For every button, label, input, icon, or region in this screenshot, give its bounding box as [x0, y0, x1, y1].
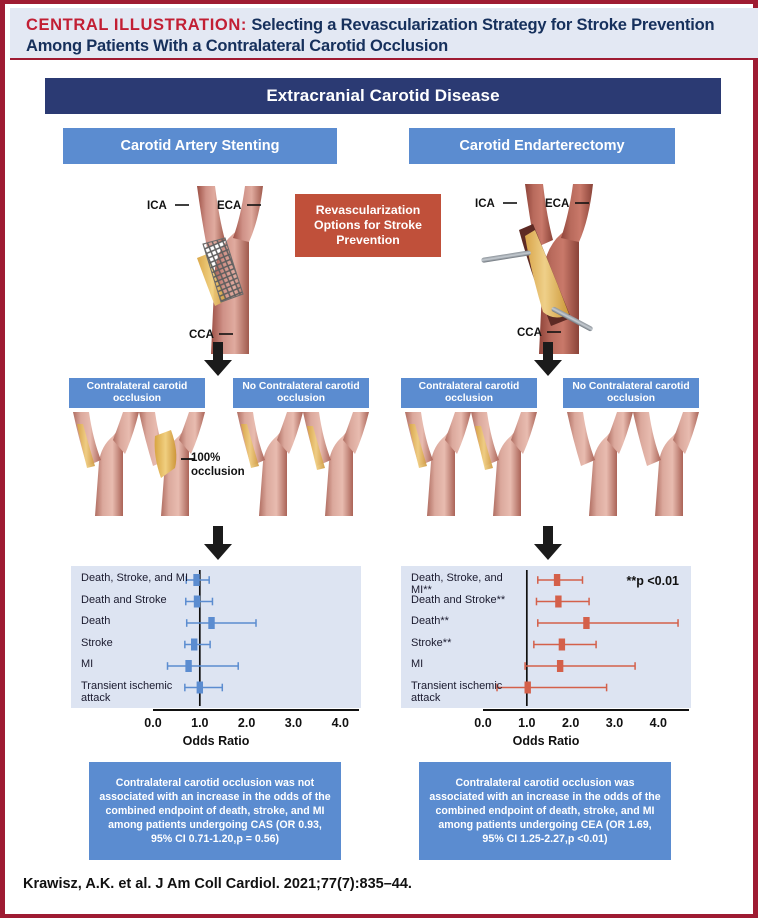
central-illustration-header: CENTRAL ILLUSTRATION: Selecting a Revasc…: [10, 8, 758, 60]
vessel-bifurcation: [471, 412, 537, 516]
down-arrow-icon-cas-2: [203, 526, 233, 560]
forest-row: [187, 617, 256, 629]
axis-tick-label: 1.0: [518, 716, 535, 730]
occlusion-callout-leader-line: [181, 456, 195, 462]
label-eca-cas: ECA: [217, 200, 241, 212]
vessel-bifurcation: [633, 412, 699, 516]
vessel-pair-group-3: [401, 410, 537, 516]
occlusion-callout-line2: occlusion: [191, 466, 245, 480]
conclusion-box-cas: Contralateral carotid occlusion was not …: [89, 762, 341, 860]
vessel-bifurcation: [405, 412, 471, 516]
disease-band-label: Extracranial Carotid Disease: [266, 86, 499, 106]
down-arrow-icon-cea-1: [533, 342, 563, 376]
label-cca-cea: CCA: [517, 327, 542, 339]
vessel-bifurcation: [73, 412, 139, 516]
point-estimate-marker: [554, 574, 560, 586]
forest-row-label: Transient ischemic attack: [411, 680, 523, 705]
point-estimate-marker: [559, 639, 565, 651]
conclusion-box-cea: Contralateral carotid occlusion was asso…: [419, 762, 671, 860]
occlusion-group-label-2: No Contralateral carotid occlusion: [233, 381, 369, 405]
forest-row: [534, 639, 596, 651]
forest-row-label: Death and Stroke**: [411, 594, 523, 606]
point-estimate-marker: [208, 617, 214, 629]
axis-tick-label: 2.0: [562, 716, 579, 730]
vessel-bifurcation: [303, 412, 369, 516]
label-cca-cas: CCA: [189, 329, 214, 341]
forest-row-label: Transient ischemic attack: [81, 680, 193, 705]
vessel-pair-group-4: [563, 410, 699, 516]
forest-row: [538, 574, 583, 586]
conclusion-text-cea: Contralateral carotid occlusion was asso…: [429, 776, 661, 846]
forest-row-label: Death, Stroke, and MI: [81, 572, 193, 584]
forest-axis-line-cea: [401, 708, 691, 722]
citation: Krawisz, A.K. et al. J Am Coll Cardiol. …: [23, 876, 412, 892]
label-ica-cea: ICA: [475, 198, 495, 210]
occlusion-group-chip-2: No Contralateral carotid occlusion: [233, 378, 369, 408]
point-estimate-marker: [525, 682, 531, 694]
forest-row-label: Death: [81, 615, 193, 627]
significance-note: **p <0.01: [627, 574, 679, 588]
axis-tick-label: 1.0: [191, 716, 208, 730]
column-header-cas: Carotid Artery Stenting: [63, 128, 337, 164]
occlusion-group-label-4: No Contralateral carotid occlusion: [563, 381, 699, 405]
label-ica-cas: ICA: [147, 200, 167, 212]
forest-row-label: MI: [411, 658, 523, 670]
central-illustration-kicker: CENTRAL ILLUSTRATION:: [26, 16, 247, 34]
vessel-pair-group-1: [69, 410, 205, 516]
axis-tick-label: 0.0: [474, 716, 491, 730]
revascularization-options-box: Revascularization Options for Stroke Pre…: [295, 194, 441, 257]
forest-row: [525, 660, 635, 672]
disease-band: Extracranial Carotid Disease: [45, 78, 721, 114]
forest-axis-line-cas: [71, 708, 361, 722]
axis-tick-label: 4.0: [650, 716, 667, 730]
axis-tick-label: 3.0: [285, 716, 302, 730]
axis-title-cas: Odds Ratio: [71, 734, 361, 748]
forest-row: [536, 596, 589, 608]
forest-row-label: MI: [81, 658, 193, 670]
vessel-pair-group-2: [233, 410, 369, 516]
occlusion-group-chip-3: Contralateral carotid occlusion: [401, 378, 537, 408]
vessel-bifurcation: [237, 412, 303, 516]
point-estimate-marker: [557, 660, 563, 672]
occlusion-group-chip-1: Contralateral carotid occlusion: [69, 378, 205, 408]
down-arrow-icon-cea-2: [533, 526, 563, 560]
occlusion-callout: 100% occlusion: [191, 452, 245, 479]
forest-row-label: Death**: [411, 615, 523, 627]
point-estimate-marker: [555, 596, 561, 608]
forest-row-label: Stroke**: [411, 637, 523, 649]
column-header-cas-label: Carotid Artery Stenting: [121, 138, 280, 154]
point-estimate-marker: [583, 617, 589, 629]
occlusion-group-label-3: Contralateral carotid occlusion: [401, 381, 537, 405]
carotid-endarterectomy-illustration: ICA ECA CCA: [475, 172, 645, 354]
label-eca-cea: ECA: [545, 198, 569, 210]
axis-tick-label: 2.0: [238, 716, 255, 730]
illustration-frame: CENTRAL ILLUSTRATION: Selecting a Revasc…: [0, 0, 758, 918]
down-arrow-icon-cas-1: [203, 342, 233, 376]
axis-tick-label: 3.0: [606, 716, 623, 730]
forest-row-label: Stroke: [81, 637, 193, 649]
point-estimate-marker: [197, 682, 203, 694]
conclusion-text-cas: Contralateral carotid occlusion was not …: [99, 776, 331, 846]
forest-plot-cas: Death, Stroke, and MIDeath and StrokeDea…: [71, 566, 361, 708]
axis-tick-label: 0.0: [144, 716, 161, 730]
carotid-stenting-illustration: ICA ECA CCA: [145, 172, 315, 354]
point-estimate-marker: [194, 596, 200, 608]
axis-title-cea: Odds Ratio: [401, 734, 691, 748]
occlusion-group-label-1: Contralateral carotid occlusion: [69, 381, 205, 405]
vessel-bifurcation: [567, 412, 633, 516]
forest-plot-cea: **p <0.01 Death, Stroke, and MI**Death a…: [401, 566, 691, 708]
forest-axis-cea: 0.01.02.03.04.0 Odds Ratio: [401, 708, 691, 752]
column-header-cea-label: Carotid Endarterectomy: [459, 138, 624, 154]
occlusion-callout-line1: 100%: [191, 452, 245, 466]
page-title: CENTRAL ILLUSTRATION: Selecting a Revasc…: [26, 15, 744, 58]
forest-axis-cas: 0.01.02.03.04.0 Odds Ratio: [71, 708, 361, 752]
column-header-cea: Carotid Endarterectomy: [409, 128, 675, 164]
revascularization-options-label: Revascularization Options for Stroke Pre…: [298, 203, 438, 248]
forest-row: [538, 617, 678, 629]
point-estimate-marker: [193, 574, 199, 586]
forest-row-label: Death and Stroke: [81, 594, 193, 606]
axis-tick-label: 4.0: [332, 716, 349, 730]
occlusion-group-chip-4: No Contralateral carotid occlusion: [563, 378, 699, 408]
